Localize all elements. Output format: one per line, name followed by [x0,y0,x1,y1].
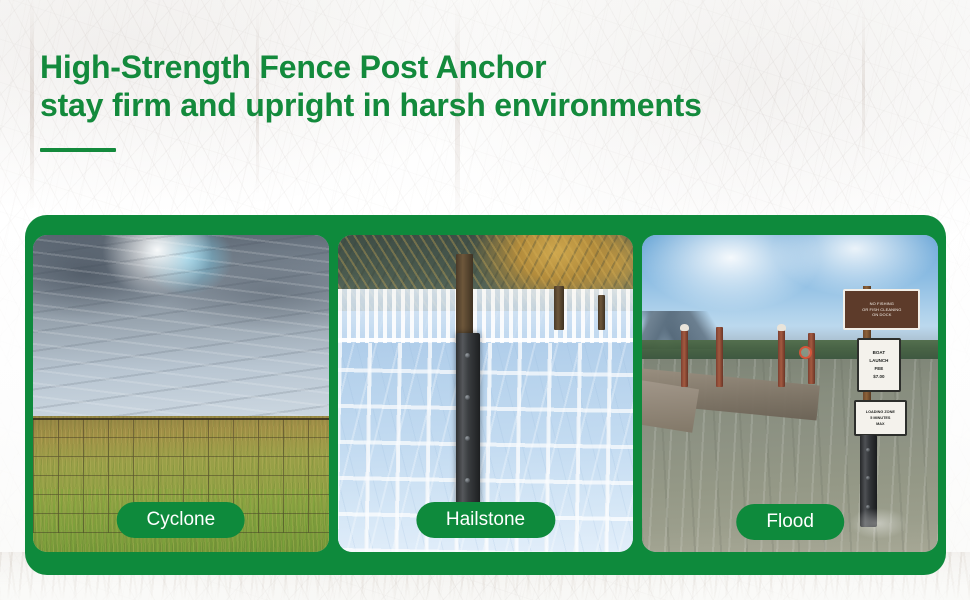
life-ring-icon [799,346,812,359]
piling-cap [680,324,689,331]
photo-card-hailstone[interactable]: Hailstone [338,235,634,552]
photo-card-cyclone[interactable]: Cyclone [33,235,329,552]
dock-piling [716,327,723,387]
wood-fence-post-mid [554,286,564,330]
sign-boat-launch-fee: BOAT LAUNCH FEE $7.00 [857,338,901,392]
dock-piling [778,330,785,387]
sign-line: $7.00 [873,373,884,381]
water-splash [849,508,908,540]
sign-line: ON DOCK [872,312,891,318]
piling-cap [777,324,786,331]
dock-near-platform [642,379,698,433]
anchor-bolt [866,476,870,480]
steel-post-anchor [456,333,480,514]
caption-badge-cyclone[interactable]: Cyclone [117,502,246,538]
caption-badge-flood[interactable]: Flood [736,504,844,540]
sign-loading-zone: LOADING ZONE 5 MINUTES MAX [854,400,907,436]
headline-line-1: High-Strength Fence Post Anchor [40,48,702,86]
caption-badge-hailstone[interactable]: Hailstone [416,502,555,538]
photo-frame: Cyclone Hail [25,215,946,575]
sign-line: MAX [876,421,884,427]
headline-line-2: stay firm and upright in harsh environme… [40,86,702,124]
anchor-bolt [465,436,470,441]
wood-fence-post-main [456,254,473,336]
anchor-bolt [465,395,470,400]
storm-cloud-streaks [33,235,329,425]
iced-picket-fence [338,289,634,343]
dock-piling [808,333,815,384]
picket-rail [338,338,634,342]
anchor-bolt [465,353,470,358]
sign-line: FEE [874,365,883,373]
anchor-bolt [465,478,470,483]
anchor-bolt [866,448,870,452]
photo-card-flood[interactable]: NO FISHING OR FISH CLEANING ON DOCK BOAT… [642,235,938,552]
wood-fence-post-far [598,295,605,330]
sign-no-fishing: NO FISHING OR FISH CLEANING ON DOCK [843,289,920,330]
dock-piling [681,330,688,387]
sign-line: BOAT [873,349,885,357]
headline-divider [40,148,116,152]
headline-block: High-Strength Fence Post Anchor stay fir… [40,48,702,152]
sign-line: LAUNCH [869,357,888,365]
product-feature-banner: High-Strength Fence Post Anchor stay fir… [0,0,970,600]
